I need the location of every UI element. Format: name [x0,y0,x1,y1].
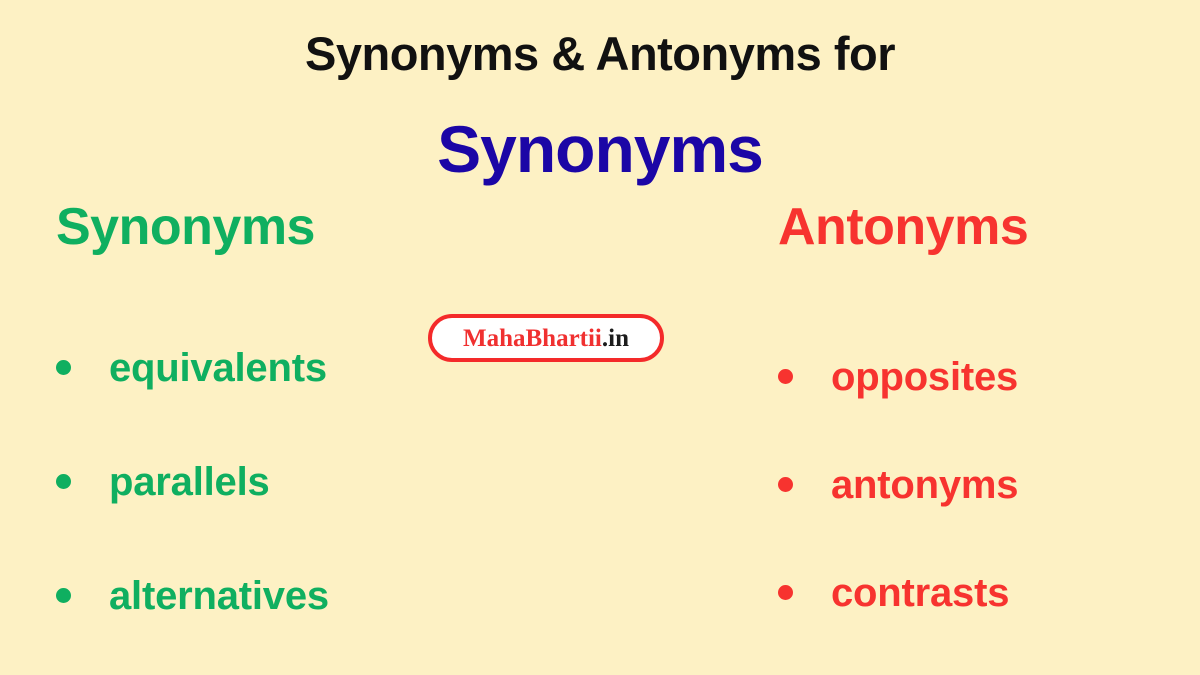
bullet-icon [56,360,71,375]
watermark-brand: MahaBhartii [463,325,602,352]
antonyms-column: Antonyms opposites antonyms contrasts [620,200,1200,675]
list-item: opposites [778,323,1200,431]
synonym-word: alternatives [109,576,329,616]
bullet-icon [56,474,71,489]
list-item: antonyms [778,431,1200,539]
watermark-text: MahaBhartii.in [463,326,629,351]
synonym-word: parallels [109,462,270,502]
word-columns: Synonyms equivalents parallels alternati… [0,200,1200,675]
bullet-icon [778,369,793,384]
bullet-icon [778,585,793,600]
list-item: alternatives [56,539,620,653]
synonyms-heading: Synonyms [56,200,620,255]
antonym-word: opposites [831,357,1018,397]
antonym-word: contrasts [831,573,1009,613]
watermark-badge: MahaBhartii.in [428,314,664,362]
list-item: contrasts [778,539,1200,647]
poster-canvas: Synonyms & Antonyms for Synonyms Synonym… [0,0,1200,675]
antonyms-heading: Antonyms [778,200,1200,255]
synonyms-column: Synonyms equivalents parallels alternati… [0,200,620,675]
antonym-word: antonyms [831,465,1018,505]
list-item: parallels [56,425,620,539]
bullet-icon [56,588,71,603]
page-title: Synonyms & Antonyms for [0,26,1200,82]
watermark-tld: .in [602,325,629,352]
keyword-heading: Synonyms [0,112,1200,188]
synonym-word: equivalents [109,348,327,388]
bullet-icon [778,477,793,492]
antonyms-list: opposites antonyms contrasts [778,323,1200,647]
